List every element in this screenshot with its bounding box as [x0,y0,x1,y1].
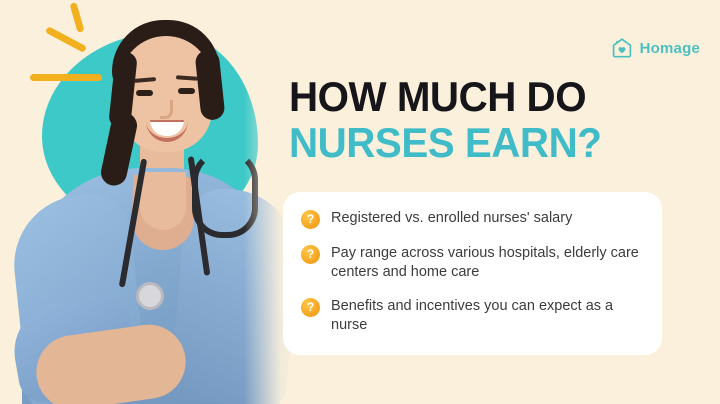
topics-card: ? Registered vs. enrolled nurses' salary… [283,192,662,355]
question-mark-icon: ? [301,210,320,229]
scrubs-v-neck-inner [140,172,186,230]
eye-left [136,90,153,96]
list-item: ? Pay range across various hospitals, el… [301,244,644,282]
brand-logo[interactable]: Homage [610,36,700,60]
brand-name: Homage [640,40,700,57]
house-heart-icon [610,36,634,60]
list-item-label: Pay range across various hospitals, elde… [331,244,644,282]
artwork-region [0,0,292,404]
list-item-label: Registered vs. enrolled nurses' salary [331,209,572,228]
eye-right [178,88,195,94]
list-item-label: Benefits and incentives you can expect a… [331,297,644,335]
page-title: HOW MUCH DO NURSES EARN? [289,74,689,166]
question-mark-icon: ? [301,245,320,264]
stethoscope-bell-icon [136,282,164,310]
question-mark-icon: ? [301,298,320,317]
headline-line-1: HOW MUCH DO [289,74,673,120]
poster-canvas: Homage HOW MUCH DO NURSES EARN? ? Regist… [0,0,720,404]
nurse-photo [0,0,292,404]
headline-line-2: NURSES EARN? [289,120,673,166]
list-item: ? Registered vs. enrolled nurses' salary [301,209,644,229]
list-item: ? Benefits and incentives you can expect… [301,297,644,335]
